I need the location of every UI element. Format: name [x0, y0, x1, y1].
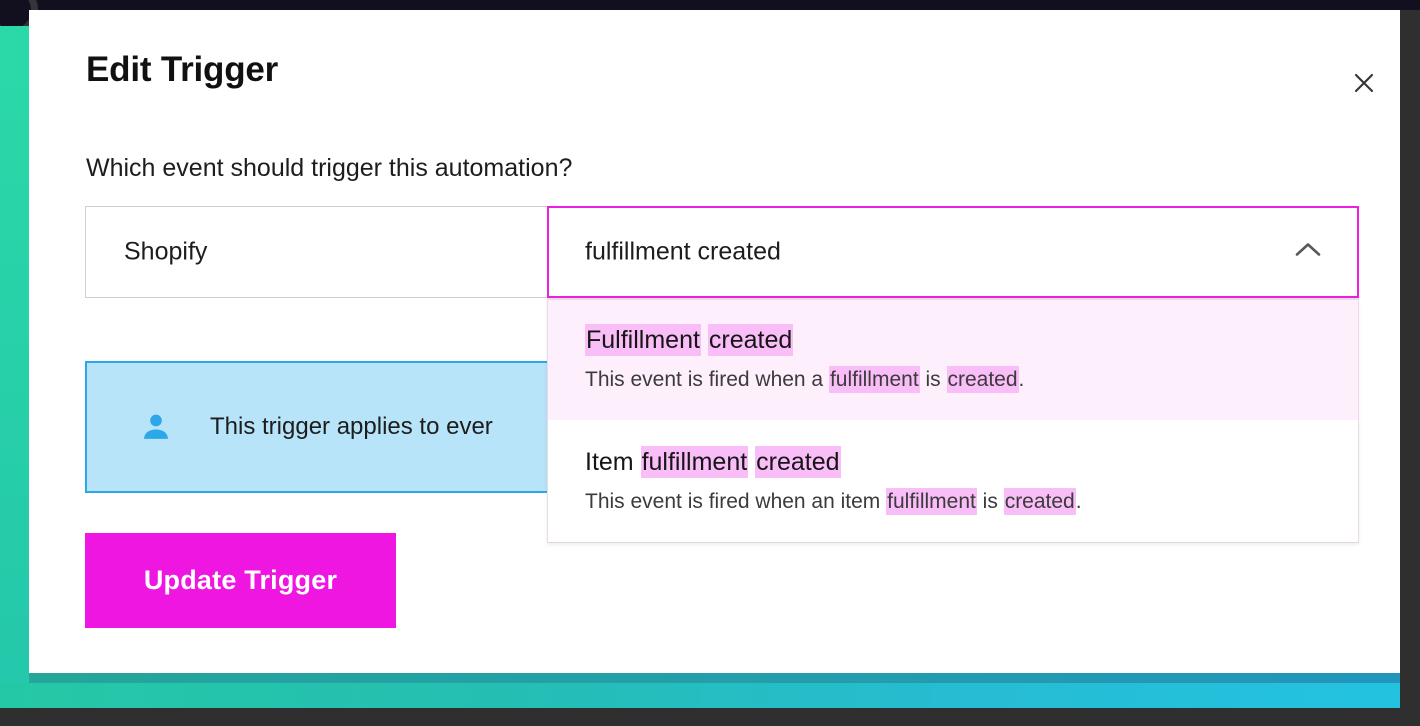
search-match-highlight: created	[1004, 488, 1076, 515]
screen: Edit Trigger Which event should trigger …	[0, 0, 1420, 726]
search-match-highlight: fulfillment	[886, 488, 977, 515]
event-option-description: This event is fired when an item fulfill…	[585, 488, 1322, 516]
background-topbar	[0, 0, 1420, 10]
event-search-input[interactable]: fulfillment created	[547, 206, 1359, 298]
search-match-highlight: created	[708, 324, 793, 356]
search-match-highlight: created	[755, 446, 840, 478]
search-match-highlight: fulfillment	[829, 366, 920, 393]
close-icon	[1353, 72, 1375, 94]
event-search-value: fulfillment created	[585, 238, 781, 267]
info-banner-text: This trigger applies to ever	[210, 413, 493, 441]
page-title: Edit Trigger	[86, 52, 278, 87]
trigger-question-label: Which event should trigger this automati…	[86, 153, 572, 183]
event-combobox-wrapper: fulfillment created Fulfillment createdT…	[547, 206, 1359, 543]
chevron-up-icon[interactable]	[1295, 242, 1321, 263]
edit-trigger-dialog: Edit Trigger Which event should trigger …	[29, 10, 1400, 673]
close-button[interactable]	[1343, 62, 1385, 104]
trigger-source-select[interactable]: Shopify	[85, 206, 615, 298]
event-options-listbox[interactable]: Fulfillment createdThis event is fired w…	[547, 298, 1359, 543]
person-icon	[139, 410, 173, 444]
event-option[interactable]: Fulfillment createdThis event is fired w…	[548, 298, 1358, 420]
search-match-highlight: fulfillment	[641, 446, 749, 478]
accent-frame-bottom	[0, 683, 1400, 708]
search-match-highlight: Fulfillment	[585, 324, 701, 356]
update-trigger-button[interactable]: Update Trigger	[85, 533, 396, 628]
event-option-title: Fulfillment created	[585, 324, 1322, 358]
trigger-source-value: Shopify	[124, 238, 207, 267]
event-option-title: Item fulfillment created	[585, 446, 1322, 480]
event-option-description: This event is fired when a fulfillment i…	[585, 366, 1322, 394]
event-option[interactable]: Item fulfillment createdThis event is fi…	[548, 420, 1358, 542]
search-match-highlight: created	[947, 366, 1019, 393]
